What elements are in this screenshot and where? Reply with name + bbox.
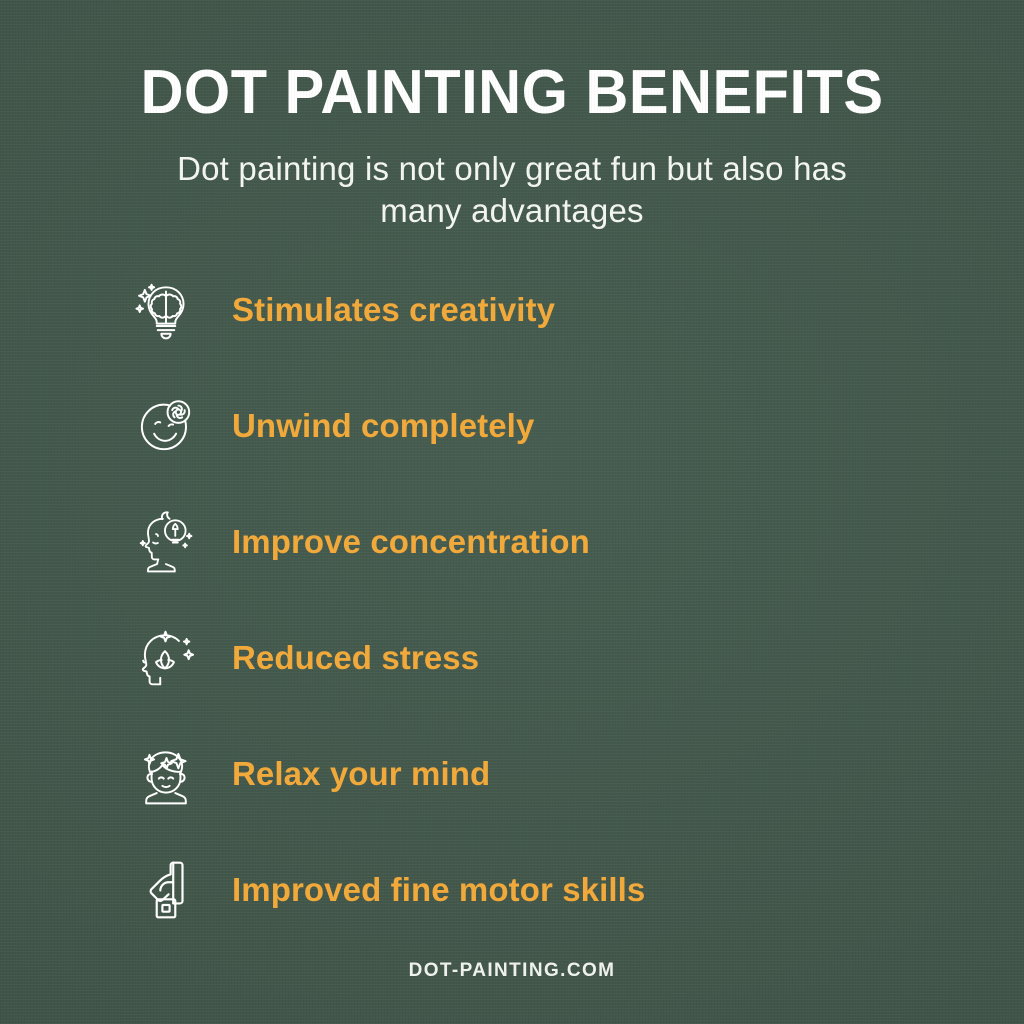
- benefit-item-relax-your-mind: Relax your mind: [128, 736, 1024, 811]
- smiling-face-flower-icon: [128, 388, 204, 463]
- page-subtitle: Dot painting is not only great fun but a…: [132, 148, 892, 232]
- benefit-label: Stimulates creativity: [232, 291, 555, 329]
- benefit-item-stimulates-creativity: Stimulates creativity: [128, 272, 1024, 347]
- benefit-item-improved-fine-motor-skills: Improved fine motor skills: [128, 852, 1024, 927]
- infographic-poster: DOT PAINTING BENEFITS Dot painting is no…: [0, 0, 1024, 1024]
- benefit-label: Improve concentration: [232, 523, 590, 561]
- benefit-item-improve-concentration: Improve concentration: [128, 504, 1024, 579]
- benefits-list: Stimulates creativity Unw: [0, 272, 1024, 927]
- header: DOT PAINTING BENEFITS Dot painting is no…: [0, 0, 1024, 232]
- benefit-label: Reduced stress: [232, 639, 479, 677]
- page-title: DOT PAINTING BENEFITS: [20, 62, 1003, 124]
- benefit-item-reduced-stress: Reduced stress: [128, 620, 1024, 695]
- benefit-label: Unwind completely: [232, 407, 534, 445]
- head-lotus-icon: [128, 620, 204, 695]
- benefit-label: Improved fine motor skills: [232, 871, 645, 909]
- footer-website: DOT-PAINTING.COM: [0, 960, 1024, 982]
- benefit-item-unwind-completely: Unwind completely: [128, 388, 1024, 463]
- brain-lightbulb-icon: [128, 272, 204, 347]
- hand-dotting-tool-icon: [128, 852, 204, 927]
- head-profile-lightbulb-icon: [128, 504, 204, 579]
- benefit-label: Relax your mind: [232, 755, 490, 793]
- relaxed-face-sparkles-icon: [128, 736, 204, 811]
